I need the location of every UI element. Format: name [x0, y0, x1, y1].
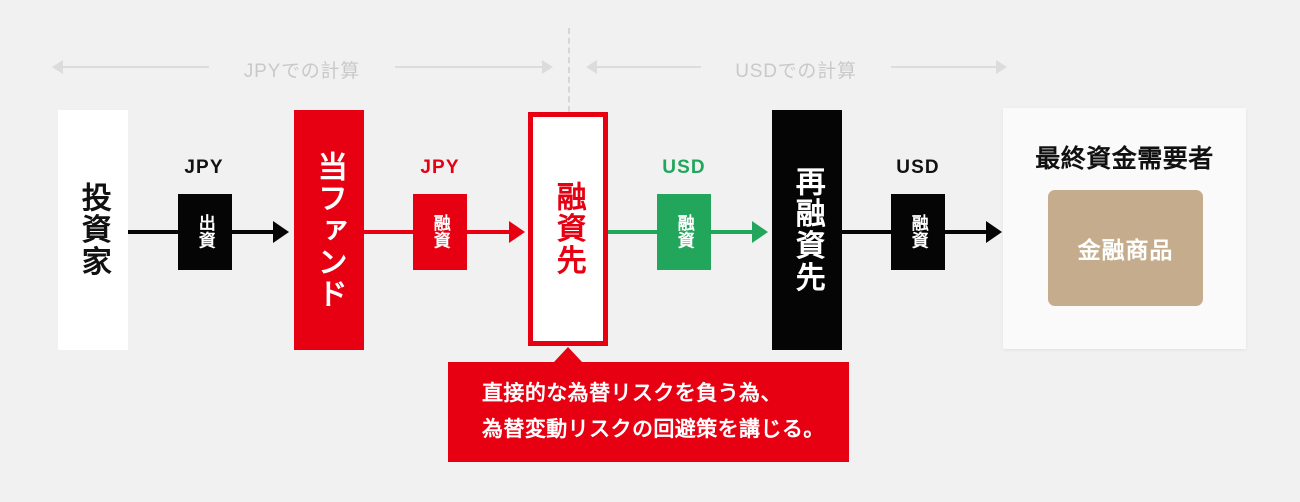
currency-divider	[568, 28, 570, 112]
jpy-scope-line-right	[395, 66, 542, 68]
callout-pointer	[554, 347, 582, 362]
usd-scope-line-left	[596, 66, 701, 68]
entity-re-lending-party-label: 再融資先	[790, 166, 824, 293]
flow-loan-jpy-line-b	[467, 230, 511, 234]
entity-investor-label: 投資家	[76, 182, 110, 277]
usd-scope-arrow-right-head	[996, 60, 1007, 74]
fx-risk-flow-diagram: JPYでの計算 USDでの計算 投資家 JPY 出資 当ファンド JPY 融資 …	[0, 0, 1300, 502]
entity-investor: 投資家	[58, 110, 128, 350]
flow-loan-usd-badge-label: 融資	[674, 214, 694, 249]
flow-loan-usd-end-currency: USD	[886, 157, 950, 179]
flow-loan-usd-currency: USD	[652, 157, 716, 179]
financial-product-chip: 金融商品	[1048, 190, 1203, 306]
entity-borrower-label: 融資先	[551, 181, 585, 276]
flow-loan-jpy-arrowhead	[509, 221, 525, 243]
flow-loan-usd-end-arrowhead	[986, 221, 1002, 243]
callout-line-1: 直接的な為替リスクを負う為、	[482, 376, 849, 412]
flow-investment-line-b	[232, 230, 275, 234]
jpy-scope-arrow-right-head	[542, 60, 553, 74]
fx-risk-callout: 直接的な為替リスクを負う為、 為替変動リスクの回避策を講じる。	[448, 362, 849, 462]
flow-loan-usd-line-b	[711, 230, 754, 234]
usd-scope-line-right	[891, 66, 996, 68]
flow-loan-jpy-badge: 融資	[413, 194, 467, 270]
flow-loan-usd-end-badge: 融資	[891, 194, 945, 270]
flow-investment-currency: JPY	[172, 157, 236, 179]
flow-loan-usd-end-line-a	[842, 230, 891, 234]
flow-investment-badge-label: 出資	[195, 214, 215, 249]
entity-borrower: 融資先	[528, 112, 608, 346]
entity-re-lending-party: 再融資先	[772, 110, 842, 350]
flow-loan-usd-badge: 融資	[657, 194, 711, 270]
flow-loan-usd-arrowhead	[752, 221, 768, 243]
entity-this-fund-label: 当ファンド	[312, 151, 346, 310]
flow-loan-usd-line-a	[608, 230, 658, 234]
flow-loan-usd-end-badge-label: 融資	[908, 214, 928, 249]
flow-loan-jpy-badge-label: 融資	[430, 214, 450, 249]
final-borrower-title: 最終資金需要者	[1003, 139, 1246, 175]
flow-investment-badge: 出資	[178, 194, 232, 270]
jpy-scope-label: JPYでの計算	[209, 56, 395, 83]
flow-investment-arrowhead	[273, 221, 289, 243]
financial-product-label: 金融商品	[1078, 231, 1174, 265]
flow-loan-usd-end-line-b	[945, 230, 988, 234]
callout-line-2: 為替変動リスクの回避策を講じる。	[482, 412, 849, 448]
jpy-scope-line-left	[62, 66, 209, 68]
usd-scope-label: USDでの計算	[701, 56, 891, 83]
entity-this-fund: 当ファンド	[294, 110, 364, 350]
flow-investment-line-a	[128, 230, 180, 234]
flow-loan-jpy-currency: JPY	[408, 157, 472, 179]
flow-loan-jpy-line-a	[364, 230, 413, 234]
